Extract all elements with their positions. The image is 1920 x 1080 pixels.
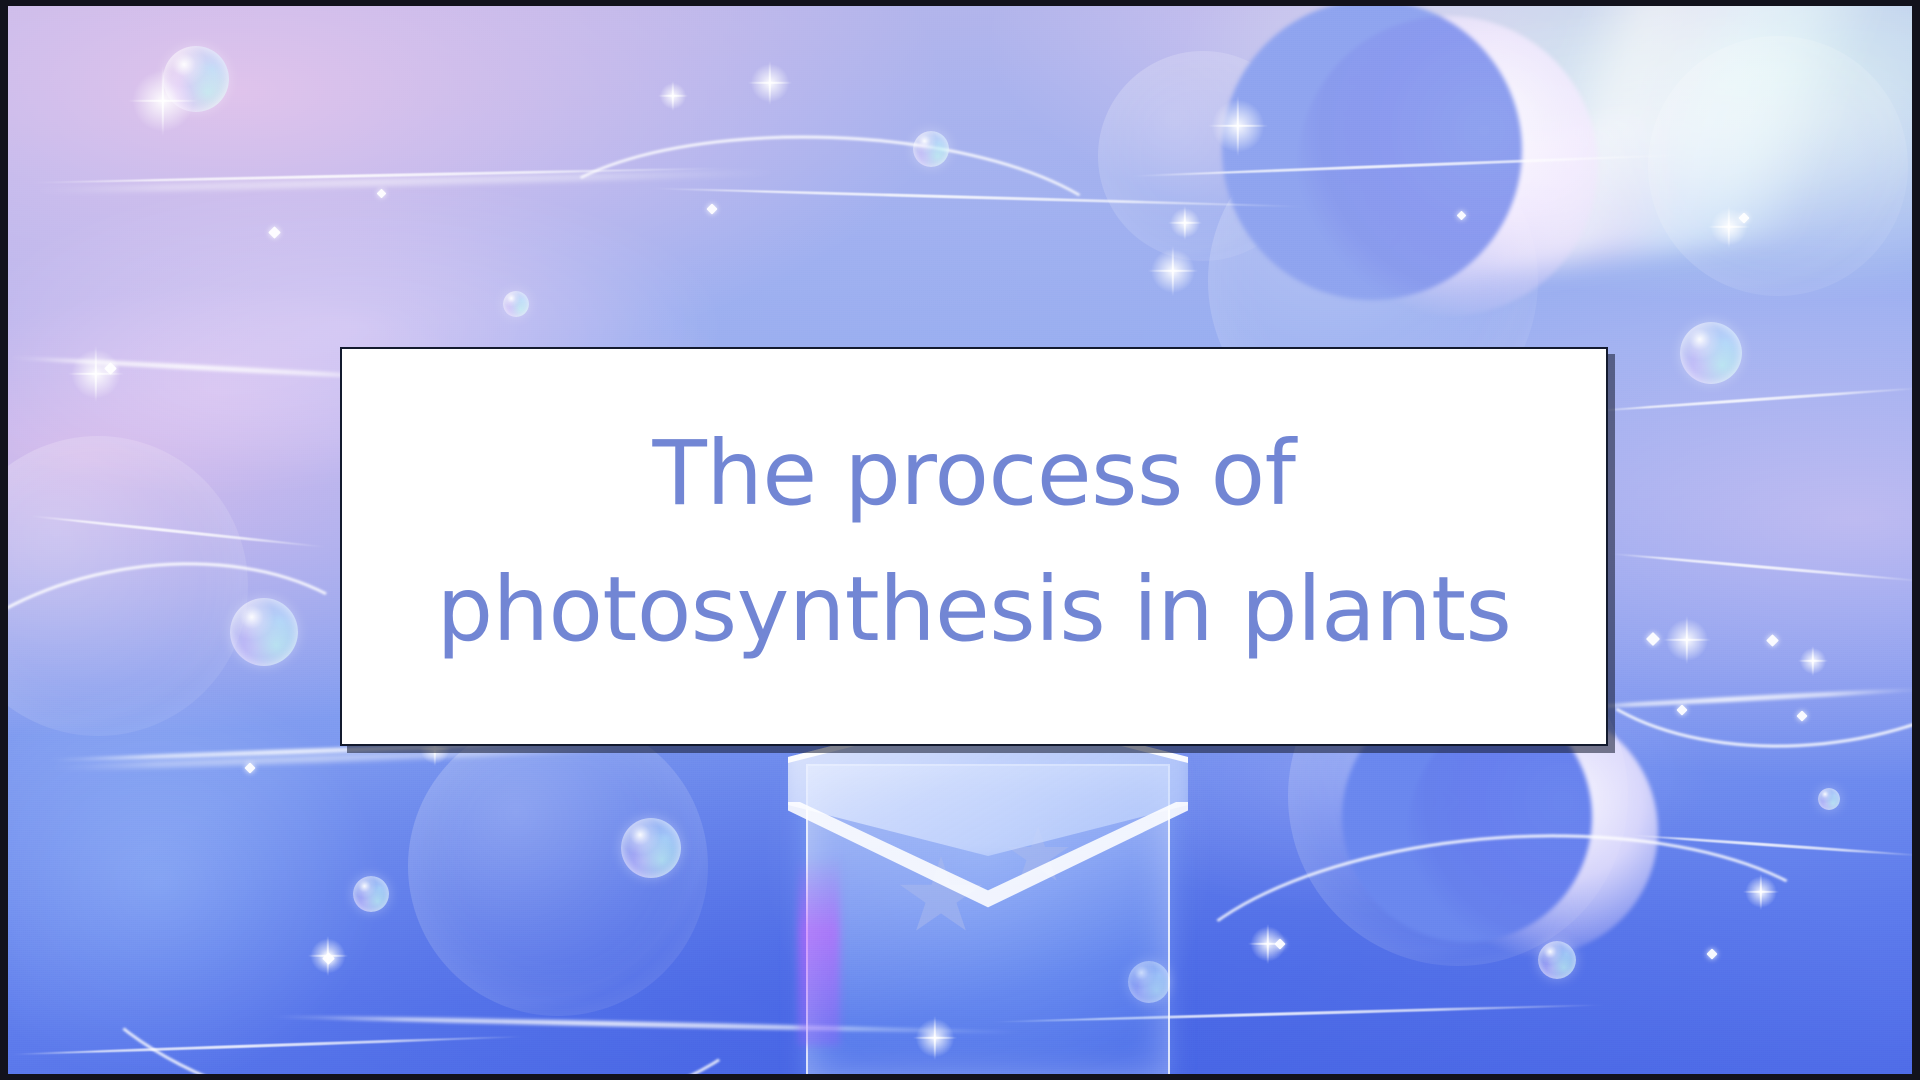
bubble-mid-left: [230, 598, 298, 666]
slide-canvas: The process of photosynthesis in plants: [8, 6, 1912, 1074]
sparkle-star-11: [913, 1016, 957, 1060]
sparkle-star-5: [1148, 246, 1198, 296]
gift-box-magenta-glow: [798, 856, 840, 1046]
bubble-upper-left-sm: [503, 291, 529, 317]
sparkle-star-2: [748, 61, 792, 105]
glass-gift-box-icon: [788, 706, 1188, 1074]
sparkle-star-1: [128, 66, 198, 136]
sparkle-star-15: [1798, 646, 1828, 676]
sparkle-star-6: [1168, 206, 1202, 240]
sparkle-star-3: [658, 81, 688, 111]
title-text-box[interactable]: The process of photosynthesis in plants: [340, 347, 1608, 746]
sparkle-star-7: [68, 346, 124, 402]
bubble-bottom-right: [1538, 941, 1576, 979]
glow-orb-right: [1648, 36, 1908, 296]
bubble-right-edge-sm: [1818, 788, 1840, 810]
slide-title: The process of photosynthesis in plants: [368, 406, 1580, 677]
bubble-lower-left-sm: [353, 876, 389, 912]
bubble-right-upper: [1680, 322, 1742, 384]
presentation-slide: The process of photosynthesis in plants: [0, 0, 1920, 1080]
bubble-top-center: [913, 131, 949, 167]
sparkle-star-9: [1663, 616, 1711, 664]
sparkle-star-13: [1743, 874, 1779, 910]
sparkle-star-4: [1208, 96, 1268, 156]
bubble-lower-left: [621, 818, 681, 878]
